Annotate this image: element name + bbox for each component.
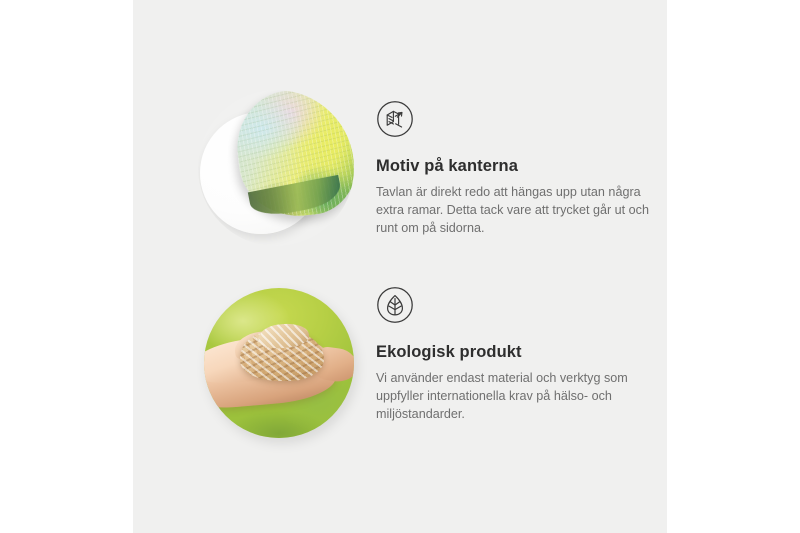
feature-text-eco: Ekologisk produkt Vi använder endast mat… xyxy=(376,280,658,424)
left-white-band xyxy=(0,0,133,533)
product-feature-banner: Motiv på kanterna Tavlan är direkt redo … xyxy=(0,0,800,533)
canvas-wrapped-edge-icon xyxy=(376,100,658,143)
canvas-print-block xyxy=(232,90,354,222)
feature-description-eco: Vi använder endast material och verktyg … xyxy=(376,369,658,424)
feature-title-edges: Motiv på kanterna xyxy=(376,157,658,177)
content-panel xyxy=(133,0,667,533)
feature-block-edges: Motiv på kanterna Tavlan är direkt redo … xyxy=(190,82,658,246)
leaf-icon xyxy=(376,286,658,329)
feature-title-eco: Ekologisk produkt xyxy=(376,343,658,363)
feature-description-edges: Tavlan är direkt redo att hängas upp uta… xyxy=(376,183,658,238)
feature-text-edges: Motiv på kanterna Tavlan är direkt redo … xyxy=(376,82,658,238)
hands-holding-wood-chips-photo xyxy=(204,288,354,438)
right-white-band xyxy=(667,0,800,533)
feature-block-eco: Ekologisk produkt Vi använder endast mat… xyxy=(190,280,658,438)
feature-media-edges xyxy=(190,82,354,246)
canvas-print-corner-photo xyxy=(198,90,354,246)
feature-media-eco xyxy=(190,280,354,438)
